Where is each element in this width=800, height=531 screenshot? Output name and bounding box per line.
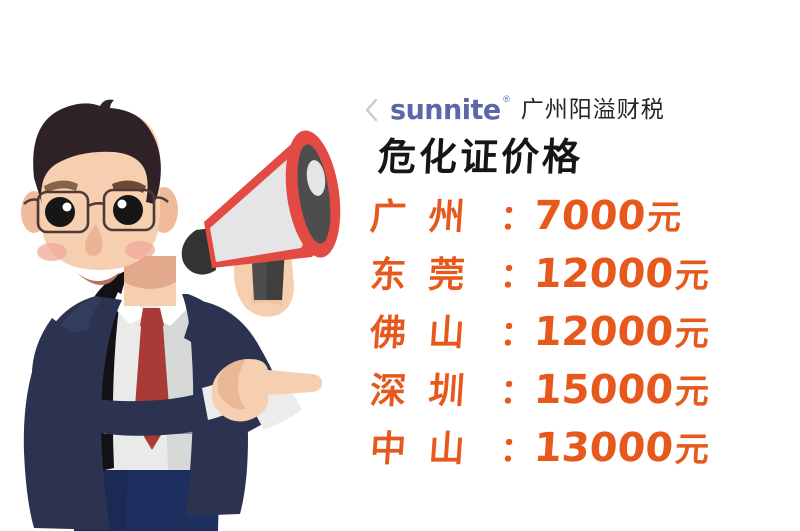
currency-unit: 元 — [674, 372, 711, 412]
price-row: 中 山 ： 13000元 — [370, 428, 790, 486]
price-amount: 15000元 — [533, 370, 711, 410]
eye-right — [113, 195, 143, 225]
price-row: 广 州 ： 7000元 — [370, 196, 790, 254]
price-row: 深 圳 ： 15000元 — [370, 370, 790, 428]
eye-right-highlight — [118, 200, 127, 209]
price-number: 7000 — [532, 193, 647, 239]
currency-unit: 元 — [674, 256, 711, 296]
currency-unit: 元 — [646, 198, 683, 238]
price-row: 佛 山 ： 12000元 — [370, 312, 790, 370]
price-amount: 12000元 — [533, 312, 711, 352]
cheek-left — [37, 243, 67, 261]
brand-header: sunnite ® 广州阳溢财税 — [362, 90, 792, 130]
price-list: 广 州 ： 7000元 东 莞 ： 12000元 佛 山 ： 12000元 深 … — [370, 196, 790, 486]
logo-wordmark: sunnite — [390, 96, 501, 124]
price-row: 东 莞 ： 12000元 — [370, 254, 790, 312]
eye-left-highlight — [63, 203, 72, 212]
cheek-right — [125, 241, 155, 259]
price-number: 12000 — [532, 251, 674, 297]
colon-separator: ： — [499, 375, 535, 409]
colon-separator: ： — [499, 259, 535, 293]
sunnite-logo[interactable]: sunnite ® — [390, 97, 501, 124]
colon-separator: ： — [499, 433, 535, 467]
city-label: 东 莞 — [369, 258, 502, 294]
registered-trademark-icon: ® — [503, 95, 510, 104]
eye-left — [45, 197, 75, 227]
city-label: 佛 山 — [369, 316, 502, 352]
colon-separator: ： — [499, 201, 535, 235]
company-name: 广州阳溢财税 — [521, 99, 665, 122]
price-amount: 12000元 — [533, 254, 711, 294]
colon-separator: ： — [499, 317, 535, 351]
poster-canvas: sunnite ® 广州阳溢财税 危化证价格 广 州 ： 7000元 东 莞 ：… — [0, 0, 800, 531]
currency-unit: 元 — [674, 430, 711, 470]
chevron-left-icon[interactable] — [362, 96, 380, 124]
price-amount: 13000元 — [533, 428, 711, 468]
illustration-svg — [0, 0, 360, 531]
price-number: 12000 — [532, 309, 674, 355]
tie-knot — [140, 308, 164, 326]
price-number: 15000 — [532, 367, 674, 413]
city-label: 深 圳 — [369, 374, 502, 410]
businessman-illustration — [0, 0, 360, 531]
price-number: 13000 — [532, 425, 674, 471]
currency-unit: 元 — [674, 314, 711, 354]
city-label: 中 山 — [369, 432, 502, 468]
page-title: 危化证价格 — [377, 137, 584, 179]
price-amount: 7000元 — [533, 196, 683, 236]
city-label: 广 州 — [369, 200, 502, 236]
